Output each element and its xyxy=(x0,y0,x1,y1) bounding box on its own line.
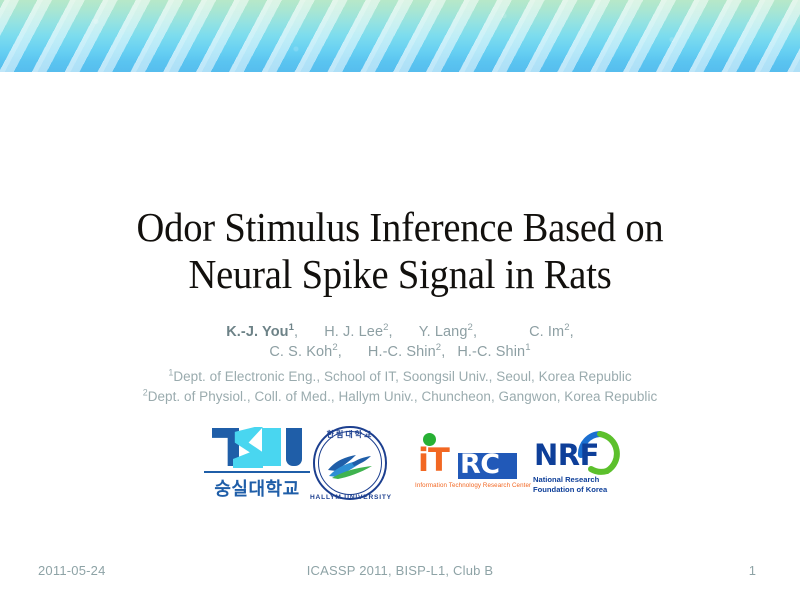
affiliation-list: 1Dept. of Electronic Eng., School of IT,… xyxy=(30,367,770,407)
author-name-2: H. J. Lee2 xyxy=(324,324,388,340)
soongsil-university-logo: 숭실대학교 xyxy=(198,426,316,504)
soongsil-mark-shape-4 xyxy=(286,428,302,466)
nrf-logo-primary-text: NRF xyxy=(534,440,599,470)
author-sep-6: , xyxy=(441,344,445,360)
hallym-logo-wave-mark xyxy=(326,451,374,479)
soongsil-logo-divider xyxy=(204,471,310,473)
slide-header-banner xyxy=(0,0,800,72)
affiliation-1-text: Dept. of Electronic Eng., School of IT, … xyxy=(173,369,631,384)
soongsil-logo-mark xyxy=(212,426,304,468)
footer-page-number: 1 xyxy=(749,563,756,578)
author-name-3-text: Y. Lang xyxy=(419,324,468,340)
sponsor-logo-row: 숭실대학교 한림대학교 HALLYM UNIVERSITY iT RC Info… xyxy=(190,423,620,507)
hallym-logo-korean-text: 한림대학교 xyxy=(310,429,390,440)
author-name-7: H.-C. Shin1 xyxy=(457,344,530,360)
author-sep-3: , xyxy=(473,324,477,340)
slide-title-line-2: Neural Spike Signal in Rats xyxy=(80,251,719,298)
nrf-logo-subtitle-line-2: Foundation of Korea xyxy=(533,485,623,495)
affiliation-2: 2Dept. of Physiol., Coll. of Med., Hally… xyxy=(30,387,770,407)
author-line-1: K.-J. You1,H. J. Lee2,Y. Lang2,C. Im2, xyxy=(60,322,740,342)
author-name-6: H.-C. Shin2 xyxy=(368,344,441,360)
hallym-university-logo: 한림대학교 HALLYM UNIVERSITY xyxy=(310,423,394,507)
author-name-7-text: H.-C. Shin xyxy=(457,344,525,360)
author-name-3: Y. Lang2 xyxy=(419,324,473,340)
author-sep-5: , xyxy=(338,344,342,360)
nrf-logo: NRF National Research Foundation of Kore… xyxy=(533,431,623,499)
affiliation-1: 1Dept. of Electronic Eng., School of IT,… xyxy=(30,367,770,387)
author-list: K.-J. You1,H. J. Lee2,Y. Lang2,C. Im2, C… xyxy=(60,322,740,362)
author-lead-name: K.-J. You1 xyxy=(226,324,294,340)
itrc-logo-subtitle: Information Technology Research Center xyxy=(415,482,521,489)
presentation-slide: Odor Stimulus Inference Based on Neural … xyxy=(0,0,800,598)
author-sep-1: , xyxy=(294,324,298,340)
soongsil-mark-shape-3 xyxy=(262,428,281,466)
author-name-5: C. S. Koh2 xyxy=(269,344,337,360)
author-sep-4: , xyxy=(570,324,574,340)
itrc-logo-primary-text: iT xyxy=(418,444,449,476)
itrc-logo-secondary-text: RC xyxy=(460,451,500,479)
nrf-logo-subtitle: National Research Foundation of Korea xyxy=(533,475,623,495)
itrc-logo: iT RC Information Technology Research Ce… xyxy=(414,433,522,495)
author-name-6-text: H.-C. Shin xyxy=(368,344,436,360)
hallym-logo-english-text: HALLYM UNIVERSITY xyxy=(310,494,390,501)
author-sep-2: , xyxy=(389,324,393,340)
nrf-logo-subtitle-line-1: National Research xyxy=(533,475,623,485)
author-name-5-text: C. S. Koh xyxy=(269,344,332,360)
author-name-4: C. Im2 xyxy=(529,324,570,340)
affiliation-2-text: Dept. of Physiol., Coll. of Med., Hallym… xyxy=(148,389,658,404)
author-lead-text: K.-J. You xyxy=(226,324,288,340)
banner-texture-overlay xyxy=(0,0,800,72)
author-name-7-affil-marker: 1 xyxy=(525,342,530,353)
author-line-2: C. S. Koh2,H.-C. Shin2,H.-C. Shin1 xyxy=(60,342,740,362)
author-name-4-text: C. Im xyxy=(529,324,564,340)
soongsil-logo-korean-text: 숭실대학교 xyxy=(198,475,316,501)
slide-title: Odor Stimulus Inference Based on Neural … xyxy=(80,204,719,298)
slide-title-line-1: Odor Stimulus Inference Based on xyxy=(80,204,719,251)
author-name-2-text: H. J. Lee xyxy=(324,324,383,340)
footer-conference-info: ICASSP 2011, BISP-L1, Club B xyxy=(0,563,800,578)
